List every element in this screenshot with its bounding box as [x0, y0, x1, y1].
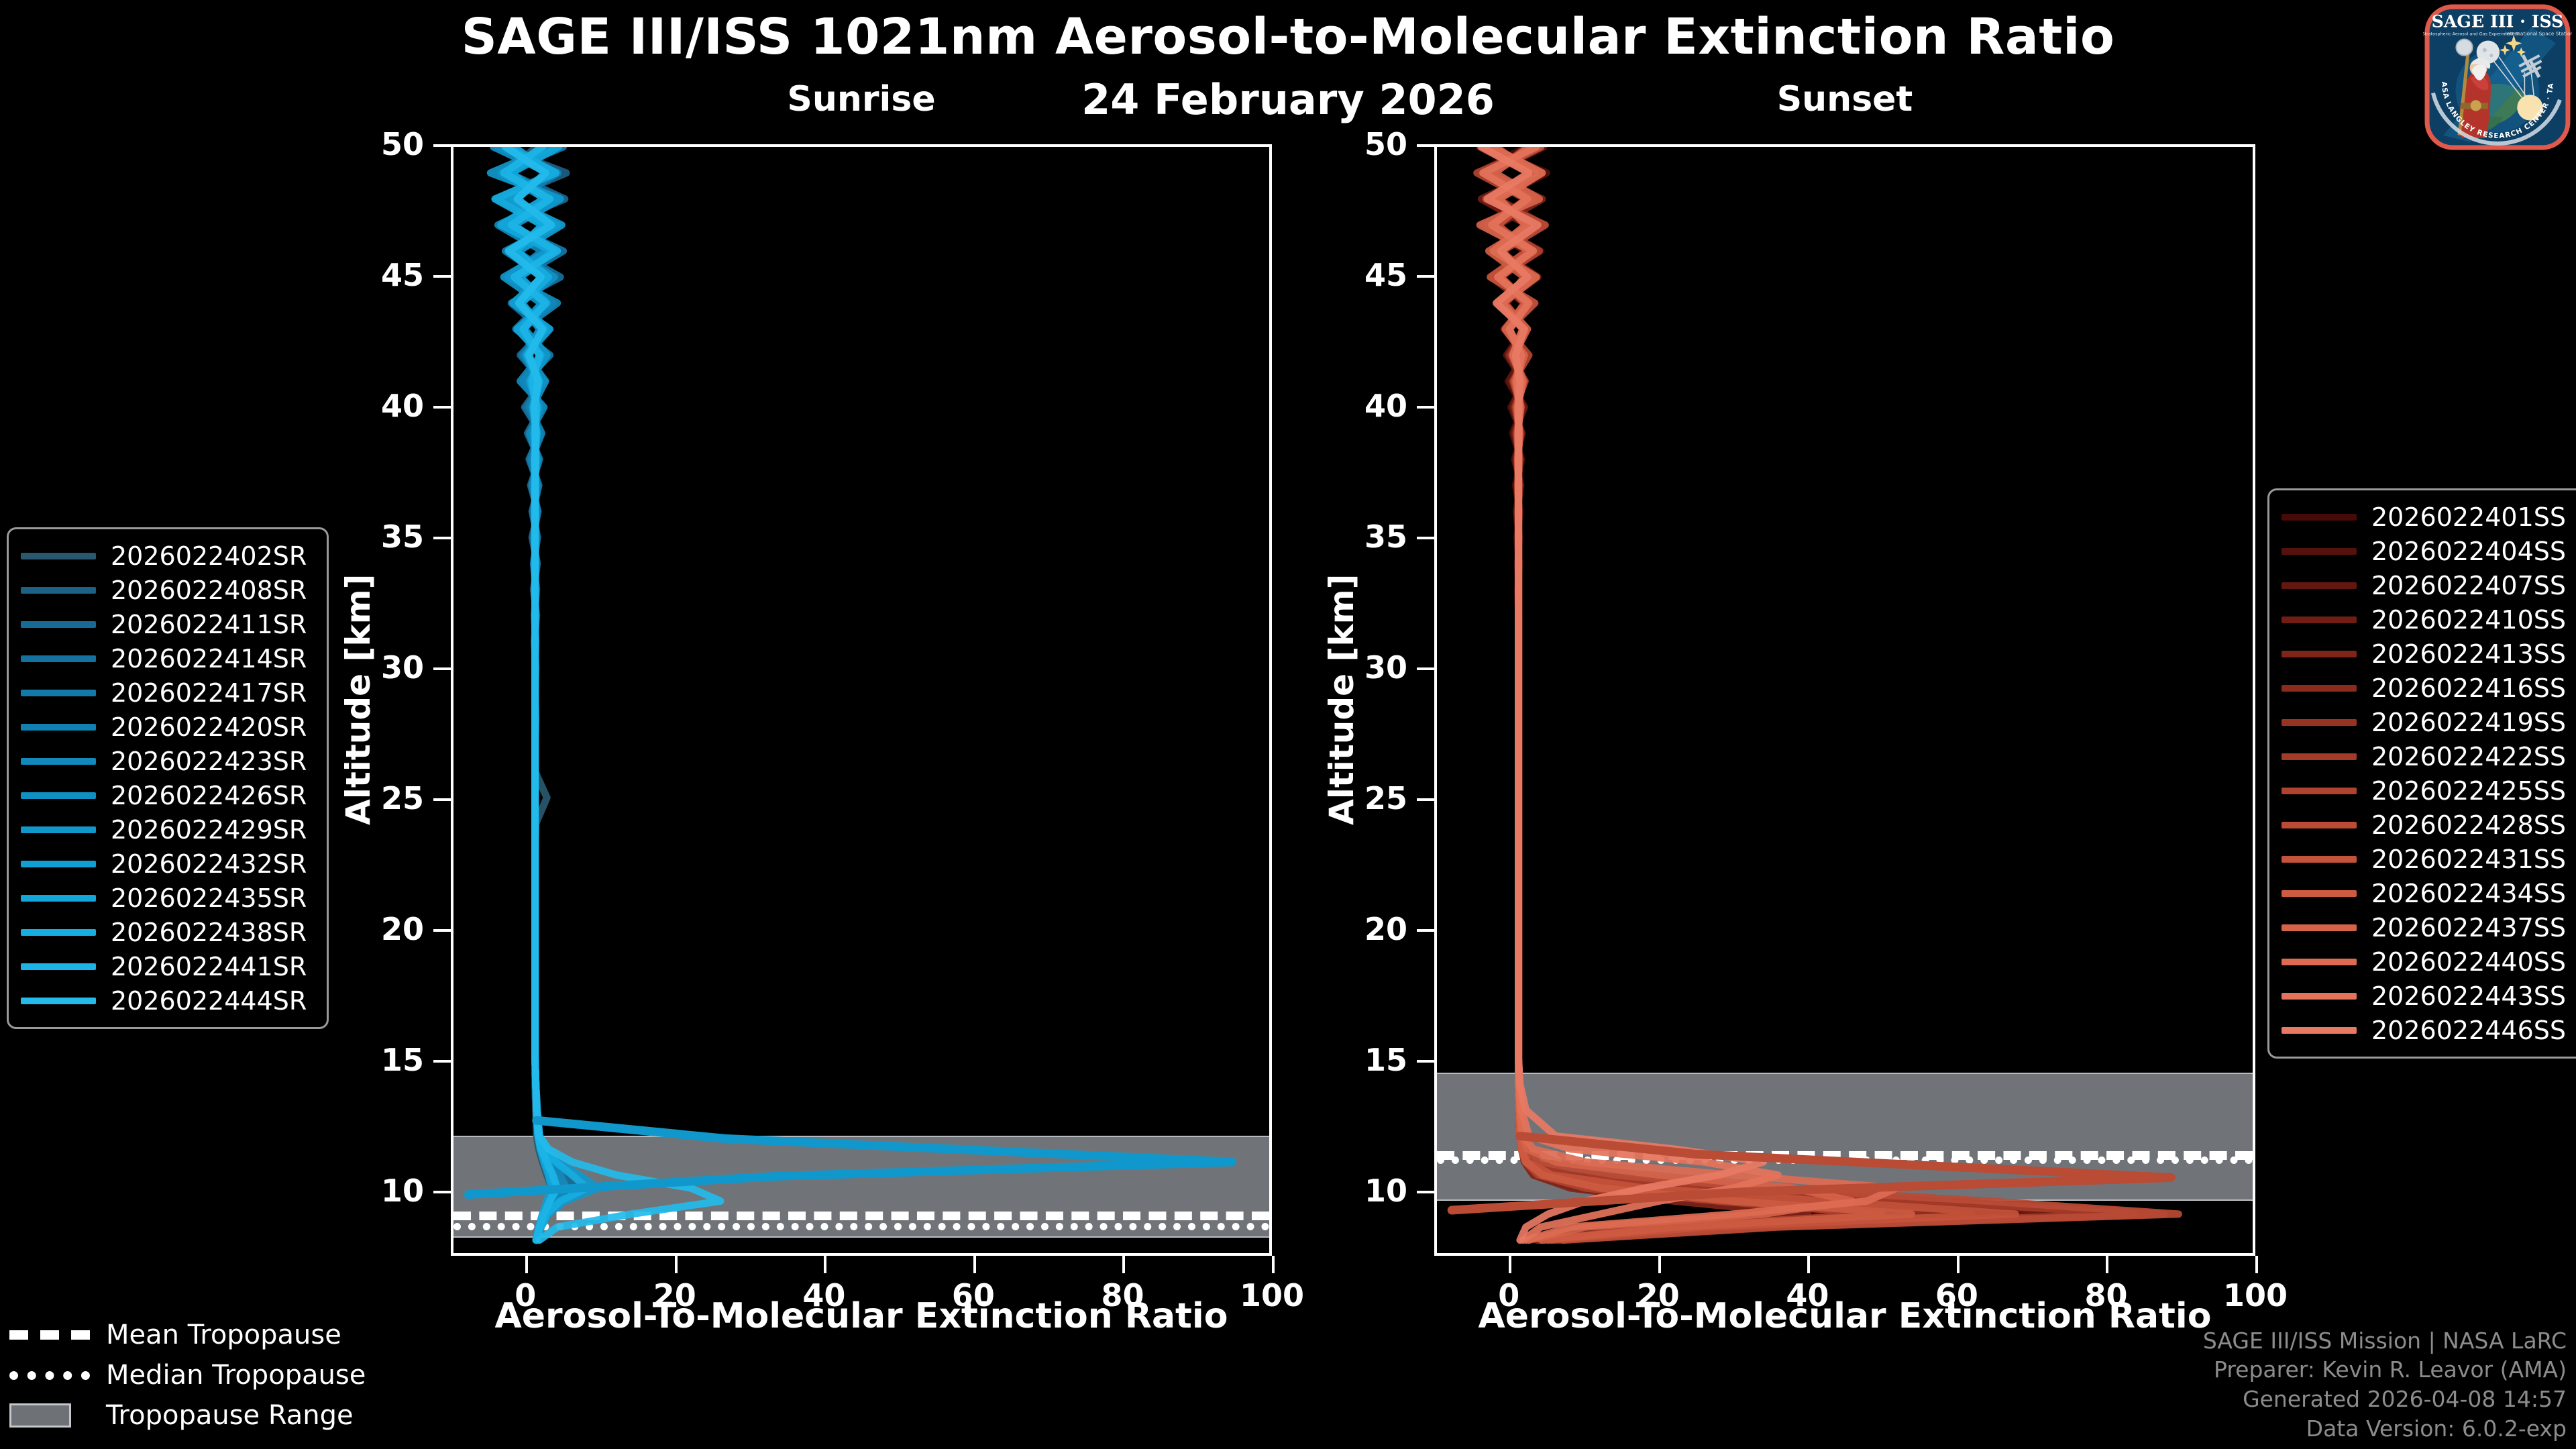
legend-item-median-tropopause: Median Tropopause	[9, 1355, 366, 1395]
sunset-legend-item[interactable]: 2026022446SS	[2282, 1013, 2576, 1047]
sunset-legend-item[interactable]: 2026022413SS	[2282, 637, 2576, 671]
legend-event-label: 2026022443SS	[2371, 981, 2576, 1011]
sunrise-legend-item[interactable]: 2026022432SR	[21, 847, 312, 881]
profile-line	[1486, 147, 2178, 1240]
legend-color-swatch	[2282, 582, 2357, 589]
y-axis-tick-label: 45	[290, 257, 424, 293]
dashed-line-icon	[9, 1324, 90, 1346]
sunset-legend-item[interactable]: 2026022428SS	[2282, 808, 2576, 842]
legend-event-label: 2026022428SS	[2371, 810, 2576, 840]
y-axis-tick-label: 10	[1273, 1173, 1407, 1209]
legend-event-label: 2026022402SR	[111, 541, 312, 571]
y-axis-tick	[1417, 144, 1434, 147]
y-axis-tick-label: 50	[1273, 126, 1407, 162]
y-axis-tick	[433, 144, 451, 147]
legend-event-label: 2026022434SS	[2371, 879, 2576, 908]
sunrise-event-legend[interactable]: 2026022402SR2026022408SR2026022411SR2026…	[7, 527, 329, 1029]
legend-color-swatch	[21, 724, 96, 731]
sunrise-legend-item[interactable]: 2026022420SR	[21, 710, 312, 744]
legend-event-label: 2026022444SR	[111, 986, 312, 1016]
profile-line	[1477, 147, 1882, 1240]
x-axis-tick	[675, 1256, 678, 1273]
sunrise-plot-area	[451, 144, 1272, 1256]
legend-event-label: 2026022419SS	[2371, 708, 2576, 737]
profile-line	[1492, 147, 1897, 1240]
legend-color-swatch	[2282, 1027, 2357, 1034]
y-axis-tick	[433, 1060, 451, 1063]
sunset-legend-item[interactable]: 2026022440SS	[2282, 945, 2576, 979]
legend-color-swatch	[21, 895, 96, 902]
legend-event-label: 2026022431SS	[2371, 845, 2576, 874]
sunrise-legend-item[interactable]: 2026022444SR	[21, 983, 312, 1018]
credits-data-version: Data Version: 6.0.2-exp	[2203, 1414, 2567, 1444]
legend-event-label: 2026022441SR	[111, 952, 312, 981]
y-axis-tick-label: 15	[1273, 1042, 1407, 1078]
y-axis-tick	[433, 406, 451, 409]
profile-line	[1483, 147, 1868, 1240]
y-axis-tick-label: 45	[1273, 257, 1407, 293]
profile-line	[1483, 147, 1912, 1240]
legend-event-label: 2026022417SR	[111, 678, 312, 708]
sunset-legend-item[interactable]: 2026022419SS	[2282, 705, 2576, 739]
legend-color-swatch	[21, 861, 96, 867]
sunrise-legend-item[interactable]: 2026022441SR	[21, 949, 312, 983]
x-axis-tick	[824, 1256, 826, 1273]
sunset-y-axis-label: Altitude [km]	[1322, 574, 1361, 825]
x-axis-tick	[1957, 1256, 1960, 1273]
legend-color-swatch	[2282, 856, 2357, 863]
legend-color-swatch	[2282, 651, 2357, 657]
y-axis-tick	[1417, 667, 1434, 670]
x-axis-tick	[1509, 1256, 1511, 1273]
legend-color-swatch	[21, 792, 96, 799]
tropopause-legend: Mean Tropopause Median Tropopause Tropop…	[9, 1315, 366, 1436]
y-axis-tick	[433, 275, 451, 278]
profile-line	[1480, 147, 2163, 1240]
legend-color-swatch	[2282, 514, 2357, 521]
tropopause-range-label: Tropopause Range	[106, 1400, 354, 1431]
legend-color-swatch	[2282, 959, 2357, 965]
legend-color-swatch	[2282, 788, 2357, 794]
legend-color-swatch	[2282, 548, 2357, 555]
y-axis-tick	[433, 1191, 451, 1193]
profile-line	[1480, 147, 1852, 1240]
sage-iii-iss-mission-patch-logo: SAGE III · ISS Stratospheric Aerosol and…	[2423, 3, 2572, 152]
legend-color-swatch	[2282, 822, 2357, 828]
legend-color-swatch	[2282, 685, 2357, 692]
y-axis-tick	[1417, 537, 1434, 539]
y-axis-tick	[433, 798, 451, 801]
gray-band-swatch-icon	[9, 1404, 90, 1427]
legend-color-swatch	[2282, 616, 2357, 623]
legend-event-label: 2026022401SS	[2371, 502, 2576, 532]
legend-event-label: 2026022414SR	[111, 644, 312, 674]
sunset-legend-item[interactable]: 2026022416SS	[2282, 671, 2576, 705]
legend-color-swatch	[2282, 719, 2357, 726]
sunrise-legend-item[interactable]: 2026022438SR	[21, 915, 312, 949]
sunrise-legend-item[interactable]: 2026022426SR	[21, 778, 312, 812]
profile-line	[1481, 147, 2104, 1240]
profile-line-outlier	[468, 1120, 1232, 1195]
legend-event-label: 2026022416SS	[2371, 674, 2576, 703]
credits-block: SAGE III/ISS Mission | NASA LaRC Prepare…	[2203, 1326, 2567, 1444]
sunset-panel-title: Sunset	[1434, 79, 2255, 119]
legend-color-swatch	[21, 826, 96, 833]
y-axis-tick-label: 40	[290, 388, 424, 424]
legend-event-label: 2026022413SS	[2371, 639, 2576, 669]
profile-line	[1489, 147, 2015, 1240]
y-axis-tick-label: 50	[290, 126, 424, 162]
x-axis-tick	[1122, 1256, 1125, 1273]
legend-color-swatch	[21, 758, 96, 765]
legend-color-swatch	[2282, 993, 2357, 1000]
credits-preparer: Preparer: Kevin R. Leavor (AMA)	[2203, 1355, 2567, 1385]
x-axis-tick	[2106, 1256, 2108, 1273]
median-tropopause-label: Median Tropopause	[106, 1360, 366, 1391]
x-axis-tick	[973, 1256, 976, 1273]
legend-color-swatch	[2282, 753, 2357, 760]
profile-line	[1489, 147, 2134, 1240]
y-axis-tick	[1417, 275, 1434, 278]
legend-color-swatch	[21, 963, 96, 970]
y-axis-tick	[433, 929, 451, 932]
legend-color-swatch	[21, 621, 96, 628]
y-axis-tick	[1417, 1191, 1434, 1193]
sunrise-y-axis-label: Altitude [km]	[339, 574, 378, 825]
y-axis-tick	[1417, 406, 1434, 409]
legend-event-label: 2026022411SR	[111, 610, 312, 639]
x-axis-tick	[525, 1256, 528, 1273]
legend-event-label: 2026022407SS	[2371, 571, 2576, 600]
legend-event-label: 2026022435SR	[111, 883, 312, 913]
legend-event-label: 2026022425SS	[2371, 776, 2576, 806]
sunrise-legend-item[interactable]: 2026022429SR	[21, 812, 312, 847]
sunset-event-legend[interactable]: 2026022401SS2026022404SS2026022407SS2026…	[2267, 488, 2576, 1059]
sunset-legend-item[interactable]: 2026022401SS	[2282, 500, 2576, 534]
legend-event-label: 2026022437SS	[2371, 913, 2576, 943]
legend-event-label: 2026022422SS	[2371, 742, 2576, 771]
sunrise-legend-item[interactable]: 2026022417SR	[21, 676, 312, 710]
profile-line	[1483, 147, 1778, 1240]
legend-color-swatch	[21, 553, 96, 559]
profile-line	[1487, 147, 1971, 1240]
legend-event-label: 2026022426SR	[111, 781, 312, 810]
y-axis-tick	[1417, 1060, 1434, 1063]
y-axis-tick	[433, 537, 451, 539]
profile-line	[1479, 147, 2030, 1240]
sunrise-panel-title: Sunrise	[451, 79, 1272, 119]
x-axis-tick	[1272, 1256, 1275, 1273]
sunrise-curves	[453, 147, 1269, 1253]
sunset-legend-item[interactable]: 2026022410SS	[2282, 602, 2576, 637]
y-axis-tick-label: 40	[1273, 388, 1407, 424]
legend-event-label: 2026022440SS	[2371, 947, 2576, 977]
legend-color-swatch	[21, 587, 96, 594]
sunrise-legend-item[interactable]: 2026022408SR	[21, 573, 312, 607]
y-axis-tick-label: 20	[1273, 911, 1407, 947]
y-axis-tick-label: 10	[290, 1173, 424, 1209]
legend-event-label: 2026022446SS	[2371, 1016, 2576, 1045]
legend-event-label: 2026022408SR	[111, 576, 312, 605]
mean-tropopause-label: Mean Tropopause	[106, 1320, 341, 1350]
dotted-line-icon	[9, 1364, 90, 1387]
y-axis-tick	[433, 667, 451, 670]
legend-event-label: 2026022420SR	[111, 712, 312, 742]
legend-color-swatch	[21, 929, 96, 936]
legend-event-label: 2026022410SS	[2371, 605, 2576, 635]
legend-color-swatch	[21, 655, 96, 662]
legend-event-label: 2026022429SR	[111, 815, 312, 845]
sunset-plot-area	[1434, 144, 2255, 1256]
credits-mission: SAGE III/ISS Mission | NASA LaRC	[2203, 1326, 2567, 1356]
legend-item-mean-tropopause: Mean Tropopause	[9, 1315, 366, 1355]
patch-title: SAGE III · ISS	[2432, 11, 2564, 31]
sunrise-legend-item[interactable]: 2026022414SR	[21, 641, 312, 676]
legend-color-swatch	[2282, 924, 2357, 931]
y-axis-tick	[1417, 929, 1434, 932]
sunset-legend-item[interactable]: 2026022407SS	[2282, 568, 2576, 602]
x-axis-tick	[1807, 1256, 1810, 1273]
patch-subtitle-left: Stratospheric Aerosol and Gas Experiment…	[2423, 31, 2519, 36]
profile-line	[1485, 147, 2060, 1240]
y-axis-tick	[1417, 798, 1434, 801]
legend-event-label: 2026022423SR	[111, 747, 312, 776]
sunrise-legend-item[interactable]: 2026022411SR	[21, 607, 312, 641]
legend-color-swatch	[2282, 890, 2357, 897]
legend-event-label: 2026022438SR	[111, 918, 312, 947]
sunrise-legend-item[interactable]: 2026022402SR	[21, 539, 312, 573]
legend-color-swatch	[21, 690, 96, 696]
legend-color-swatch	[21, 998, 96, 1004]
sunset-legend-item[interactable]: 2026022404SS	[2282, 534, 2576, 568]
x-axis-tick	[1658, 1256, 1661, 1273]
sunset-legend-item[interactable]: 2026022425SS	[2282, 773, 2576, 808]
sunset-legend-item[interactable]: 2026022443SS	[2282, 979, 2576, 1013]
y-axis-tick-label: 15	[290, 1042, 424, 1078]
legend-event-label: 2026022404SS	[2371, 537, 2576, 566]
page-title: SAGE III/ISS 1021nm Aerosol-to-Molecular…	[0, 12, 2576, 62]
sunset-legend-item[interactable]: 2026022431SS	[2282, 842, 2576, 876]
sunset-legend-item[interactable]: 2026022422SS	[2282, 739, 2576, 773]
sunrise-legend-item[interactable]: 2026022435SR	[21, 881, 312, 915]
sunset-legend-item[interactable]: 2026022437SS	[2282, 910, 2576, 945]
credits-generated: Generated 2026-04-08 14:57	[2203, 1385, 2567, 1414]
x-axis-tick	[2255, 1256, 2258, 1273]
sunset-curves	[1437, 147, 2253, 1253]
sunrise-legend-item[interactable]: 2026022423SR	[21, 744, 312, 778]
patch-subtitle-right: International Space Station	[2506, 30, 2572, 36]
sunset-x-axis-label: Aerosol-To-Molecular Extinction Ratio	[1434, 1296, 2255, 1336]
legend-item-tropopause-range: Tropopause Range	[9, 1395, 366, 1436]
profile-line	[1486, 147, 1808, 1240]
sunrise-x-axis-label: Aerosol-To-Molecular Extinction Ratio	[451, 1296, 1272, 1336]
sunset-legend-item[interactable]: 2026022434SS	[2282, 876, 2576, 910]
legend-event-label: 2026022432SR	[111, 849, 312, 879]
y-axis-tick-label: 35	[1273, 519, 1407, 555]
